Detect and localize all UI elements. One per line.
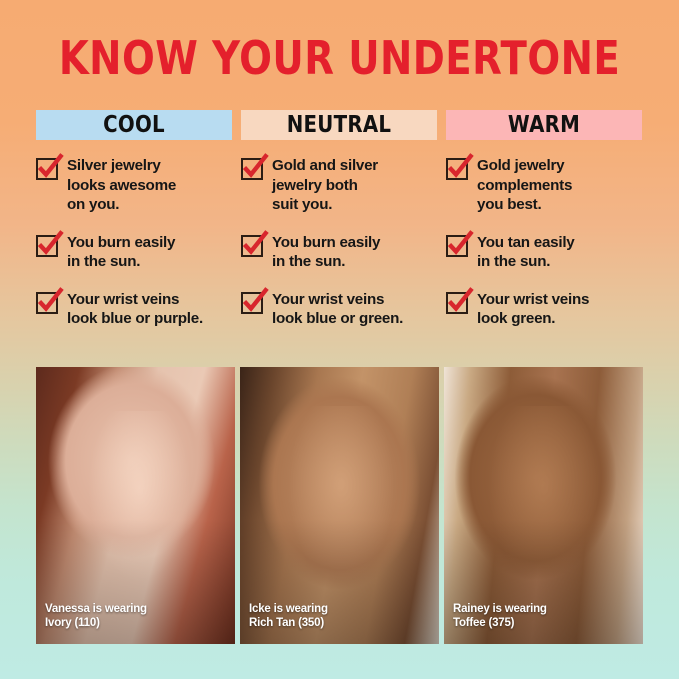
checklist-warm: Gold jewelry complements you best. You t… — [446, 156, 642, 329]
undertone-columns: COOL Silver jewelry looks awesome on you… — [36, 110, 643, 329]
photo-caption: Icke is wearing Rich Tan (350) — [249, 603, 328, 630]
column-header-cool: COOL — [36, 110, 232, 140]
checked-checkbox-icon — [241, 292, 263, 314]
checklist-item-text: Silver jewelry looks awesome on you. — [67, 156, 176, 215]
column-warm: WARM Gold jewelry complements you best. … — [446, 110, 642, 329]
checklist-item: Gold and silver jewelry both suit you. — [241, 156, 437, 215]
checklist-item: Silver jewelry looks awesome on you. — [36, 156, 232, 215]
model-photo-neutral: Icke is wearing Rich Tan (350) — [240, 367, 439, 644]
checklist-item: You burn easily in the sun. — [36, 233, 232, 272]
checklist-neutral: Gold and silver jewelry both suit you. Y… — [241, 156, 437, 329]
checked-checkbox-icon — [36, 235, 58, 257]
checklist-item: Gold jewelry complements you best. — [446, 156, 642, 215]
column-header-warm-label: WARM — [460, 110, 629, 140]
undertone-poster: KNOW YOUR UNDERTONE COOL Silver jewelry … — [0, 0, 679, 679]
checked-checkbox-icon — [36, 158, 58, 180]
checklist-item: Your wrist veins look green. — [446, 290, 642, 329]
column-header-neutral-label: NEUTRAL — [255, 110, 424, 140]
column-neutral: NEUTRAL Gold and silver jewelry both sui… — [241, 110, 437, 329]
model-photo-row: Vanessa is wearing Ivory (110) Icke is w… — [36, 367, 643, 644]
checked-checkbox-icon — [446, 292, 468, 314]
photo-caption: Vanessa is wearing Ivory (110) — [45, 603, 147, 630]
model-photo-cool: Vanessa is wearing Ivory (110) — [36, 367, 235, 644]
checklist-item-text: Gold jewelry complements you best. — [477, 156, 572, 215]
checklist-item-text: You tan easily in the sun. — [477, 233, 575, 272]
checked-checkbox-icon — [446, 235, 468, 257]
checked-checkbox-icon — [241, 158, 263, 180]
checked-checkbox-icon — [36, 292, 58, 314]
checklist-item-text: Gold and silver jewelry both suit you. — [272, 156, 378, 215]
checklist-item-text: Your wrist veins look blue or green. — [272, 290, 403, 329]
checklist-item: Your wrist veins look blue or green. — [241, 290, 437, 329]
checklist-cool: Silver jewelry looks awesome on you. You… — [36, 156, 232, 329]
checklist-item: You burn easily in the sun. — [241, 233, 437, 272]
checklist-item-text: You burn easily in the sun. — [272, 233, 380, 272]
checked-checkbox-icon — [241, 235, 263, 257]
checklist-item: You tan easily in the sun. — [446, 233, 642, 272]
model-photo-warm: Rainey is wearing Toffee (375) — [444, 367, 643, 644]
column-header-neutral: NEUTRAL — [241, 110, 437, 140]
checked-checkbox-icon — [446, 158, 468, 180]
checklist-item-text: Your wrist veins look green. — [477, 290, 589, 329]
photo-caption: Rainey is wearing Toffee (375) — [453, 603, 547, 630]
checklist-item: Your wrist veins look blue or purple. — [36, 290, 232, 329]
column-header-warm: WARM — [446, 110, 642, 140]
column-header-cool-label: COOL — [50, 110, 219, 140]
checklist-item-text: You burn easily in the sun. — [67, 233, 175, 272]
column-cool: COOL Silver jewelry looks awesome on you… — [36, 110, 232, 329]
page-title: KNOW YOUR UNDERTONE — [54, 33, 624, 83]
checklist-item-text: Your wrist veins look blue or purple. — [67, 290, 203, 329]
